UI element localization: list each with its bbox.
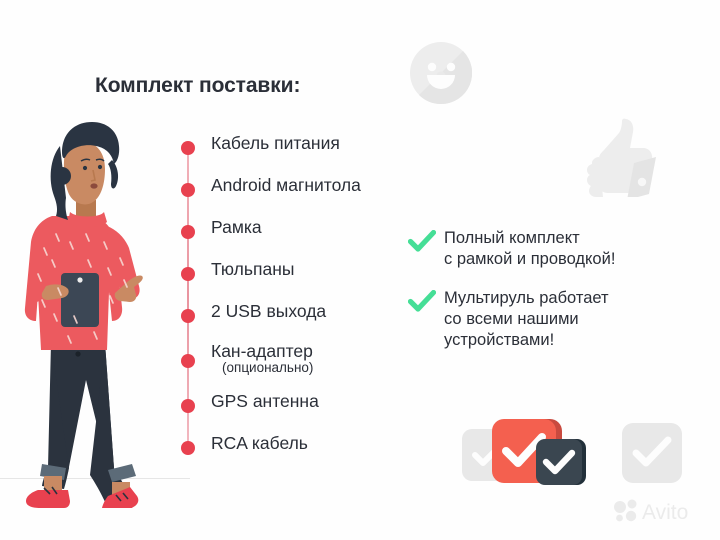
- list-item-label: Тюльпаны: [211, 258, 294, 280]
- bullet-dot-icon: [181, 267, 195, 281]
- watermark-text: Avito: [642, 501, 688, 524]
- list-item-label: Android магнитола: [211, 174, 361, 196]
- benefits-list: Полный комплект с рамкой и проводкой! Му…: [408, 228, 615, 365]
- list-item-label: RCA кабель: [211, 432, 308, 454]
- promo-banner: Комплект поставки: Кабель питания Androi…: [0, 0, 720, 540]
- green-check-icon: [408, 230, 436, 254]
- benefit-line: с рамкой и проводкой!: [444, 249, 615, 270]
- benefit-line: Мультируль работает: [444, 288, 615, 309]
- list-item-label: GPS антенна: [211, 390, 319, 412]
- bullet-dot-icon: [181, 441, 195, 455]
- benefit-line: Полный комплект: [444, 228, 615, 249]
- bullet-dot-icon: [181, 354, 195, 368]
- list-item-label: Рамка: [211, 216, 262, 238]
- benefit-item: Мультируль работает со всеми нашими устр…: [408, 288, 615, 351]
- page-title: Комплект поставки:: [95, 74, 300, 98]
- benefit-line: устройствами!: [444, 330, 615, 351]
- avito-watermark: Avito: [612, 497, 710, 525]
- list-item-label: 2 USB выхода: [211, 300, 326, 322]
- list-item-label: Кабель питания: [211, 132, 340, 154]
- bullet-dot-icon: [181, 225, 195, 239]
- woman-pointing-illustration: [8, 108, 178, 508]
- bullet-dot-icon: [181, 183, 195, 197]
- bullet-dot-icon: [181, 309, 195, 323]
- bullet-dot-icon: [181, 141, 195, 155]
- benefit-line: со всеми нашими: [444, 309, 615, 330]
- checkbox-group-icon: [462, 415, 682, 495]
- list-item-sublabel: (опционально): [222, 359, 313, 376]
- benefit-item: Полный комплект с рамкой и проводкой!: [408, 228, 615, 270]
- thumbs-up-icon: [582, 115, 656, 197]
- green-check-icon: [408, 290, 436, 314]
- smiley-face-icon: [410, 42, 472, 104]
- bullet-dot-icon: [181, 399, 195, 413]
